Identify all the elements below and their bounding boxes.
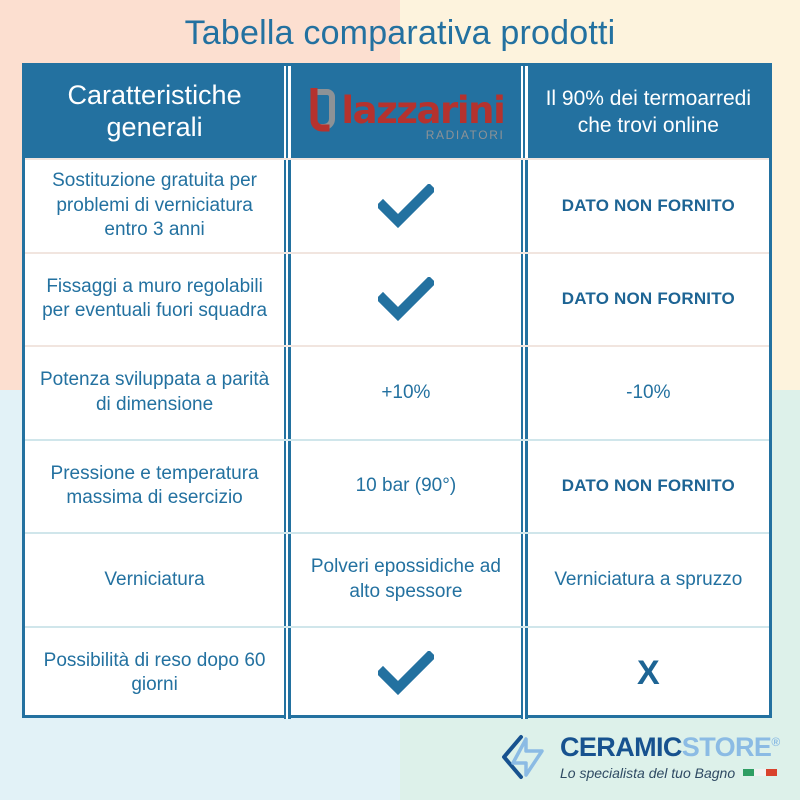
lazzarini-cell	[291, 160, 521, 252]
header-cell-features: Caratteristiche generali	[25, 66, 284, 158]
column-divider-1	[284, 66, 291, 158]
header-features-label: Caratteristiche generali	[35, 80, 274, 144]
column-divider-1	[284, 628, 291, 720]
competitor-cell: -10%	[528, 347, 769, 439]
header-cell-lazzarini: lazzarini RADIATORI	[291, 66, 521, 158]
checkmark-icon	[378, 277, 434, 321]
lazzarini-subtitle: RADIATORI	[426, 128, 505, 143]
feature-cell: Possibilità di reso dopo 60 giorni	[25, 628, 284, 720]
competitor-value: Verniciatura a spruzzo	[554, 568, 742, 592]
brand-tagline: Lo specialista del tuo Bagno	[560, 765, 735, 781]
ceramicstore-logo: CERAMICSTORE® Lo specialista del tuo Bag…	[500, 733, 780, 781]
lazzarini-checkmark	[378, 651, 434, 695]
table-row: Potenza sviluppata a parità di dimension…	[25, 345, 769, 439]
lazzarini-cell: +10%	[291, 347, 521, 439]
table-row: Sostituzione gratuita per problemi di ve…	[25, 158, 769, 252]
lazzarini-checkmark	[378, 277, 434, 321]
competitor-cell: DATO NON FORNITO	[528, 254, 769, 346]
brand-name-store: STORE	[682, 732, 772, 762]
italian-flag-icon	[743, 769, 777, 776]
competitor-cell: Verniciatura a spruzzo	[528, 534, 769, 626]
lazzarini-wordmark: lazzarini RADIATORI	[341, 93, 504, 130]
lazzarini-cell	[291, 254, 521, 346]
lazzarini-value: +10%	[381, 381, 430, 405]
column-divider-2	[521, 441, 528, 533]
column-divider-2	[521, 254, 528, 346]
competitor-value: DATO NON FORNITO	[562, 288, 735, 310]
competitor-cell: DATO NON FORNITO	[528, 160, 769, 252]
column-divider-2	[521, 628, 528, 720]
feature-label: Verniciatura	[104, 568, 204, 592]
column-divider-2	[521, 347, 528, 439]
lazzarini-cell: 10 bar (90°)	[291, 441, 521, 533]
column-divider-2	[521, 534, 528, 626]
column-divider-1	[284, 441, 291, 533]
feature-cell: Pressione e temperatura massima di eserc…	[25, 441, 284, 533]
competitor-value: DATO NON FORNITO	[562, 195, 735, 217]
competitor-value: DATO NON FORNITO	[562, 475, 735, 497]
column-divider-2	[521, 160, 528, 252]
lazzarini-word: lazzarini	[341, 89, 504, 132]
table-row: Possibilità di reso dopo 60 giorniX	[25, 626, 769, 720]
table-row: Pressione e temperatura massima di eserc…	[25, 439, 769, 533]
feature-cell: Sostituzione gratuita per problemi di ve…	[25, 160, 284, 252]
lazzarini-value: Polveri epossidiche ad alto spessore	[301, 555, 511, 604]
brand-name: CERAMICSTORE®	[560, 734, 780, 761]
lazzarini-hook-icon	[307, 88, 337, 136]
checkmark-icon	[378, 184, 434, 228]
header-competitors-label: Il 90% dei termoarredi che trovi online	[538, 85, 759, 140]
lazzarini-logo: lazzarini RADIATORI	[307, 88, 504, 136]
feature-label: Sostituzione gratuita per problemi di ve…	[35, 169, 274, 242]
lazzarini-cell: Polveri epossidiche ad alto spessore	[291, 534, 521, 626]
table-body: Sostituzione gratuita per problemi di ve…	[25, 158, 769, 719]
header-cell-competitors: Il 90% dei termoarredi che trovi online	[528, 66, 769, 158]
lazzarini-checkmark	[378, 184, 434, 228]
checkmark-icon	[378, 651, 434, 695]
page-title: Tabella comparativa prodotti	[0, 14, 800, 53]
table-row: VerniciaturaPolveri epossidiche ad alto …	[25, 532, 769, 626]
feature-cell: Verniciatura	[25, 534, 284, 626]
column-divider-1	[284, 347, 291, 439]
feature-label: Fissaggi a muro regolabili per eventuali…	[35, 275, 274, 324]
comparison-table: Caratteristiche generali lazzarini RADIA…	[22, 63, 772, 718]
column-divider-2	[521, 66, 528, 158]
chevron-arrow-icon	[500, 733, 548, 781]
column-divider-1	[284, 254, 291, 346]
table-row: Fissaggi a muro regolabili per eventuali…	[25, 252, 769, 346]
registered-mark: ®	[771, 735, 779, 749]
brand-tagline-row: Lo specialista del tuo Bagno	[560, 765, 780, 781]
feature-label: Pressione e temperatura massima di eserc…	[35, 462, 274, 511]
column-divider-1	[284, 160, 291, 252]
competitor-cell: X	[528, 628, 769, 720]
table-header-row: Caratteristiche generali lazzarini RADIA…	[25, 66, 769, 158]
brand-name-ceramic: CERAMIC	[560, 732, 682, 762]
competitor-value: -10%	[626, 381, 670, 405]
competitor-xmark: X	[637, 656, 660, 690]
feature-cell: Fissaggi a muro regolabili per eventuali…	[25, 254, 284, 346]
column-divider-1	[284, 534, 291, 626]
feature-label: Potenza sviluppata a parità di dimension…	[35, 368, 274, 417]
competitor-cell: DATO NON FORNITO	[528, 441, 769, 533]
lazzarini-cell	[291, 628, 521, 720]
feature-label: Possibilità di reso dopo 60 giorni	[35, 649, 274, 698]
lazzarini-value: 10 bar (90°)	[356, 474, 457, 498]
feature-cell: Potenza sviluppata a parità di dimension…	[25, 347, 284, 439]
